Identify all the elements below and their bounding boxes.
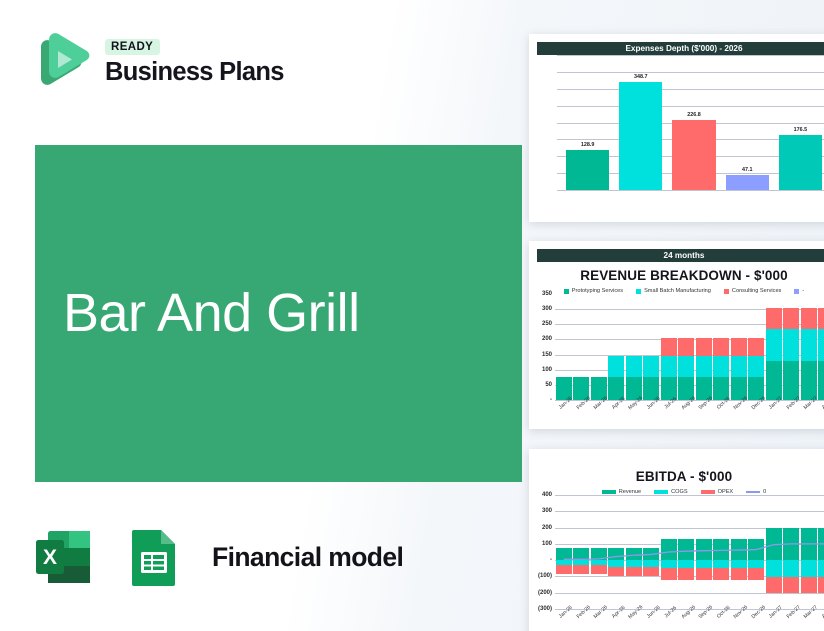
bar-segment	[783, 329, 799, 361]
bar-value-label: 176.5	[779, 127, 822, 133]
legend-swatch	[602, 490, 616, 494]
bar-segment	[783, 560, 799, 577]
chart-banner-24-months: 24 months	[537, 249, 824, 262]
bar-segment	[591, 548, 607, 560]
footer-row: X Financial model	[28, 521, 403, 593]
bar-segment	[661, 338, 677, 356]
stacked-bar-series-ebitda	[555, 495, 824, 609]
x-axis-revenue: Jan-26Feb-26Mar-26Apr-26May-26Jun-26Jul-…	[555, 400, 824, 426]
bar-segment	[766, 329, 782, 361]
bar-column: 226.8	[672, 55, 715, 190]
bar-segment	[731, 560, 747, 568]
bar-segment	[573, 565, 589, 574]
bar-segment	[626, 356, 642, 377]
bar-segment	[696, 356, 712, 377]
y-axis-tick: 100	[542, 541, 552, 547]
bar-segment	[556, 565, 572, 574]
y-axis-ebitda: 400300200100-(100)(200)(300)	[529, 495, 553, 609]
page-title: Bar And Grill	[63, 285, 360, 342]
stacked-bar-column	[608, 294, 624, 400]
stacked-bar-column	[608, 495, 624, 609]
bar-segment	[573, 548, 589, 560]
plot-area-revenue: 35030025020015010050-	[555, 294, 824, 400]
bar-segment	[801, 560, 817, 577]
bar-segment	[818, 577, 824, 592]
bar-segment	[766, 577, 782, 592]
y-axis-revenue: 35030025020015010050-	[529, 294, 553, 400]
y-axis-tick: (200)	[538, 590, 552, 596]
bar	[619, 82, 662, 190]
stacked-bar-column	[801, 294, 817, 400]
bar-segment	[713, 356, 729, 377]
stacked-bar-column	[766, 495, 782, 609]
bar-segment	[643, 560, 659, 567]
bar-segment	[661, 539, 677, 560]
bar-segment	[783, 577, 799, 592]
stacked-bar-column	[783, 495, 799, 609]
bar-value-label: 226.8	[672, 112, 715, 118]
bar-segment	[748, 560, 764, 568]
bar-segment	[556, 548, 572, 560]
y-axis-tick: 400	[542, 492, 552, 498]
bar-segment	[713, 560, 729, 568]
y-axis-tick: 100	[542, 367, 552, 373]
stacked-bar-column	[766, 294, 782, 400]
bar-segment	[783, 308, 799, 330]
legend-swatch	[746, 491, 760, 493]
bar-segment	[643, 548, 659, 560]
stacked-bar-column	[661, 495, 677, 609]
stacked-bar-column	[556, 495, 572, 609]
chart-card-expenses[interactable]: Expenses Depth ($'000) - 2026 128.9348.7…	[529, 34, 824, 222]
bar-segment	[748, 568, 764, 580]
bar-column: 128.9	[566, 55, 609, 190]
bar-value-label: 348.7	[619, 74, 662, 80]
legend-swatch	[724, 289, 729, 294]
y-axis-tick: 200	[542, 336, 552, 342]
stacked-bar-column	[713, 294, 729, 400]
bar-segment	[626, 548, 642, 560]
bar-segment	[818, 560, 824, 577]
bar-segment	[801, 308, 817, 330]
bar	[672, 120, 715, 190]
bar-segment	[626, 567, 642, 576]
y-axis-tick: -	[550, 397, 552, 403]
bar-column: 176.5	[779, 55, 822, 190]
bar-segment	[696, 568, 712, 580]
stacked-bar-column	[818, 294, 824, 400]
stacked-bar-column	[818, 495, 824, 609]
microsoft-excel-icon: X	[28, 521, 100, 593]
x-axis-ebitda: Jan-26Feb-26Mar-26Apr-26May-26Jun-26Jul-…	[555, 609, 824, 631]
play-triangles-logo-icon	[27, 27, 95, 95]
bar	[779, 135, 822, 190]
stacked-bar-column	[731, 294, 747, 400]
stacked-bar-column	[696, 495, 712, 609]
brand-name: Business Plans	[105, 59, 284, 86]
bar-segment	[766, 560, 782, 577]
stacked-bar-series-revenue	[555, 294, 824, 400]
y-axis-tick: 300	[542, 508, 552, 514]
y-axis-tick: (100)	[538, 573, 552, 579]
bar	[566, 150, 609, 190]
bar-segment	[626, 560, 642, 567]
bar-segment	[591, 565, 607, 574]
stacked-bar-column	[696, 294, 712, 400]
stacked-bar-column	[573, 495, 589, 609]
ready-badge: READY	[105, 39, 160, 55]
bar-segment	[678, 356, 694, 377]
bar-segment	[818, 361, 824, 400]
stacked-bar-column	[643, 294, 659, 400]
y-axis-tick: 350	[542, 291, 552, 297]
bar-segment	[608, 356, 624, 377]
bar-segment	[818, 329, 824, 361]
stacked-bar-column	[801, 495, 817, 609]
legend-swatch	[794, 289, 799, 294]
bar-column: 348.7	[619, 55, 662, 190]
bar	[726, 175, 769, 190]
stacked-bar-column	[678, 495, 694, 609]
google-sheets-icon	[118, 521, 190, 593]
bar-segment	[608, 560, 624, 567]
stacked-bar-column	[591, 495, 607, 609]
bar-segment	[678, 568, 694, 580]
bar-segment	[818, 528, 824, 560]
bar-segment	[801, 528, 817, 560]
y-axis-tick: (300)	[538, 606, 552, 612]
bar-segment	[748, 539, 764, 560]
bar-segment	[731, 338, 747, 356]
stacked-bar-column	[731, 495, 747, 609]
gridline	[557, 190, 824, 191]
stacked-bar-column	[661, 294, 677, 400]
stacked-bar-column	[643, 495, 659, 609]
legend-swatch	[564, 289, 569, 294]
y-axis-tick: -	[550, 557, 552, 563]
bar-segment	[678, 539, 694, 560]
brand-header: READY Business Plans	[27, 27, 284, 95]
bar-segment	[678, 338, 694, 356]
bar-segment	[608, 548, 624, 560]
bar-segment	[661, 568, 677, 580]
chart-title-revenue-breakdown: REVENUE BREAKDOWN - $'000	[529, 268, 824, 283]
bar-series-expenses: 128.9348.7226.847.1176.5	[557, 55, 824, 190]
y-axis-tick: 150	[542, 352, 552, 358]
bar-segment	[801, 329, 817, 361]
chart-card-ebitda[interactable]: EBITDA - $'000 RevenueCOGSOPEX0 40030020…	[529, 449, 824, 631]
y-axis-tick: 50	[545, 382, 552, 388]
stacked-bar-column	[713, 495, 729, 609]
stacked-bar-column	[573, 294, 589, 400]
bar-column: 47.1	[726, 55, 769, 190]
stacked-bar-column	[626, 294, 642, 400]
bar-value-label: 47.1	[726, 167, 769, 173]
chart-banner-expenses: Expenses Depth ($'000) - 2026	[537, 42, 824, 55]
plot-area-ebitda: 400300200100-(100)(200)(300)	[555, 495, 824, 609]
legend-swatch	[654, 490, 668, 494]
stacked-bar-column	[748, 495, 764, 609]
bar-segment	[661, 356, 677, 377]
bar-segment	[661, 560, 677, 568]
bar-segment	[643, 356, 659, 377]
svg-text:X: X	[43, 546, 57, 569]
y-axis-tick: 250	[542, 321, 552, 327]
financial-model-label: Financial model	[212, 542, 403, 573]
bar-segment	[643, 567, 659, 576]
stacked-bar-column	[678, 294, 694, 400]
bar-segment	[818, 308, 824, 330]
bar-segment	[713, 568, 729, 580]
bar-segment	[608, 567, 624, 576]
chart-title-ebitda: EBITDA - $'000	[529, 469, 824, 484]
bar-segment	[678, 560, 694, 568]
bar-segment	[731, 356, 747, 377]
stacked-bar-column	[783, 294, 799, 400]
plot-area-expenses: 128.9348.7226.847.1176.5	[557, 55, 824, 190]
bar-segment	[731, 539, 747, 560]
bar-segment	[713, 539, 729, 560]
hero-banner: Bar And Grill	[35, 145, 522, 482]
stacked-bar-column	[556, 294, 572, 400]
bar-segment	[713, 338, 729, 356]
left-panel: READY Business Plans Bar And Grill X	[0, 0, 525, 631]
y-axis-tick: 200	[542, 525, 552, 531]
bar-segment	[748, 356, 764, 377]
y-axis-tick: 300	[542, 306, 552, 312]
bar-segment	[783, 361, 799, 400]
brand-text-block: READY Business Plans	[105, 37, 284, 86]
legend-swatch	[701, 490, 715, 494]
bar-segment	[748, 338, 764, 356]
chart-card-revenue-breakdown[interactable]: 24 months REVENUE BREAKDOWN - $'000 Prot…	[529, 241, 824, 429]
bar-segment	[696, 560, 712, 568]
bar-segment	[731, 568, 747, 580]
bar-segment	[766, 528, 782, 560]
bar-value-label: 128.9	[566, 142, 609, 148]
stacked-bar-column	[748, 294, 764, 400]
bar-segment	[766, 308, 782, 330]
stacked-bar-column	[626, 495, 642, 609]
bar-segment	[801, 577, 817, 592]
bar-segment	[696, 539, 712, 560]
stacked-bar-column	[591, 294, 607, 400]
bar-segment	[696, 338, 712, 356]
bar-segment	[783, 528, 799, 560]
legend-swatch	[636, 289, 641, 294]
